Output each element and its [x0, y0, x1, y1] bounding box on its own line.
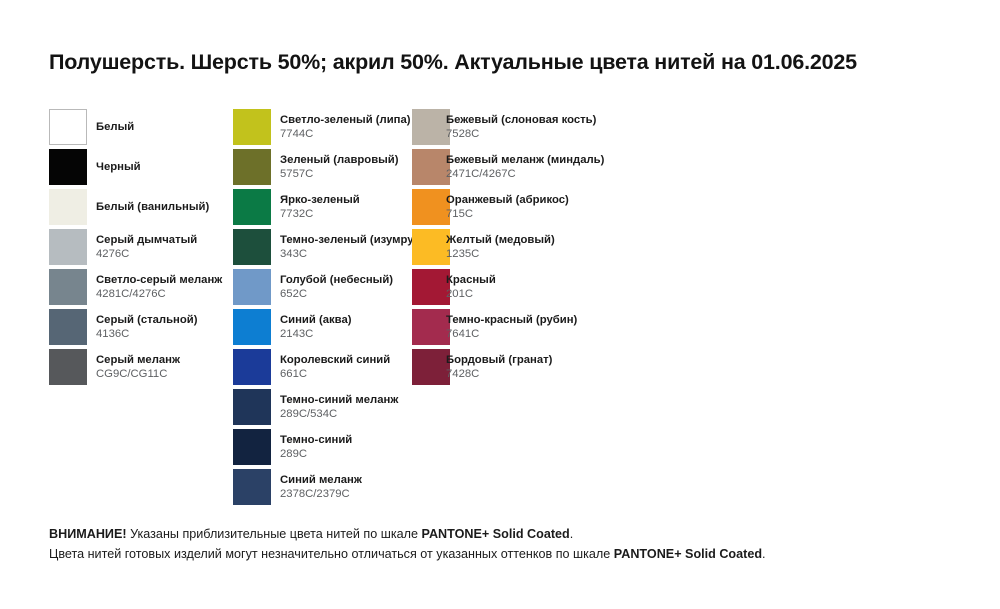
swatch-row[interactable]: Красный201C [412, 269, 642, 309]
swatch-name: Светло-серый меланж [96, 273, 222, 287]
swatch-name: Голубой (небесный) [280, 273, 393, 287]
swatch-pantone-code: 289C [280, 447, 352, 461]
swatch-labels: Серый меланжCG9C/CG11C [96, 349, 180, 385]
swatch-name: Бордовый (гранат) [446, 353, 552, 367]
color-chip[interactable] [412, 349, 450, 385]
swatch-row[interactable]: Оранжевый (абрикос)715C [412, 189, 642, 229]
swatch-name: Красный [446, 273, 496, 287]
color-chip[interactable] [412, 309, 450, 345]
swatch-name: Оранжевый (абрикос) [446, 193, 569, 207]
swatch-labels: Желтый (медовый)1235C [446, 229, 555, 265]
swatch-pantone-code: 661C [280, 367, 390, 381]
swatch-labels: Темно-синий меланж289C/534C [280, 389, 398, 425]
color-chip[interactable] [233, 389, 271, 425]
swatch-labels: Голубой (небесный)652C [280, 269, 393, 305]
color-chart-page: Полушерсть. Шерсть 50%; акрил 50%. Актуа… [0, 0, 1000, 609]
color-chip[interactable] [49, 109, 87, 145]
swatch-name: Серый (стальной) [96, 313, 198, 327]
swatch-labels: Зеленый (лавровый)5757C [280, 149, 399, 185]
color-chip[interactable] [233, 469, 271, 505]
swatch-name: Темно-синий [280, 433, 352, 447]
swatch-labels: Серый (стальной)4136C [96, 309, 198, 345]
swatch-labels: Белый (ванильный) [96, 189, 209, 225]
swatch-row[interactable]: Синий меланж2378C/2379C [233, 469, 413, 509]
footer-line-2: Цвета нитей готовых изделий могут незнач… [49, 544, 969, 564]
color-chip[interactable] [412, 189, 450, 225]
swatch-name: Серый меланж [96, 353, 180, 367]
swatch-labels: Бордовый (гранат)7428C [446, 349, 552, 385]
swatch-labels: Бежевый меланж (миндаль)2471C/4267C [446, 149, 604, 185]
swatch-labels: Красный201C [446, 269, 496, 305]
swatch-labels: Темно-красный (рубин)7641C [446, 309, 577, 345]
color-chip[interactable] [233, 349, 271, 385]
swatch-row[interactable]: Синий (аква)2143C [233, 309, 413, 349]
footer-line-2-end: . [762, 547, 766, 561]
swatch-name: Королевский синий [280, 353, 390, 367]
color-chip[interactable] [49, 189, 87, 225]
swatch-name: Темно-красный (рубин) [446, 313, 577, 327]
footer-notice: ВНИМАНИЕ! Указаны приблизительные цвета … [49, 524, 969, 564]
color-chip[interactable] [233, 229, 271, 265]
swatch-name: Бежевый (слоновая кость) [446, 113, 596, 127]
swatch-labels: Светло-серый меланж4281C/4276C [96, 269, 222, 305]
swatch-name: Бежевый меланж (миндаль) [446, 153, 604, 167]
swatch-row[interactable]: Белый (ванильный) [49, 189, 234, 229]
swatch-row[interactable]: Темно-красный (рубин)7641C [412, 309, 642, 349]
swatch-row[interactable]: Королевский синий661C [233, 349, 413, 389]
swatch-labels: Темно-синий289C [280, 429, 352, 465]
color-chip[interactable] [233, 189, 271, 225]
swatch-name: Темно-зеленый (изумруд) [280, 233, 424, 247]
swatch-labels: Белый [96, 109, 134, 145]
swatch-row[interactable]: Бордовый (гранат)7428C [412, 349, 642, 389]
color-chip[interactable] [233, 269, 271, 305]
swatch-name: Белый [96, 120, 134, 134]
swatch-name: Синий (аква) [280, 313, 352, 327]
color-chip[interactable] [412, 109, 450, 145]
swatch-row[interactable]: Серый дымчатый4276C [49, 229, 234, 269]
swatch-labels: Синий (аква)2143C [280, 309, 352, 345]
color-chip[interactable] [233, 109, 271, 145]
swatch-pantone-code: 2378C/2379C [280, 487, 362, 501]
swatch-pantone-code: 343C [280, 247, 424, 261]
swatch-pantone-code: 652C [280, 287, 393, 301]
footer-line-2-text: Цвета нитей готовых изделий могут незнач… [49, 547, 614, 561]
swatch-labels: Оранжевый (абрикос)715C [446, 189, 569, 225]
swatch-pantone-code: 4281C/4276C [96, 287, 222, 301]
swatch-row[interactable]: Голубой (небесный)652C [233, 269, 413, 309]
swatch-pantone-code: 2471C/4267C [446, 167, 604, 181]
footer-brand-2: PANTONE+ Solid Coated [614, 547, 762, 561]
swatch-column-warm: Бежевый (слоновая кость)7528CБежевый мел… [412, 109, 642, 389]
swatch-name: Ярко-зеленый [280, 193, 360, 207]
swatch-name: Зеленый (лавровый) [280, 153, 399, 167]
color-chip[interactable] [49, 149, 87, 185]
swatch-pantone-code: 5757C [280, 167, 399, 181]
swatch-pantone-code: 7744C [280, 127, 411, 141]
footer-line-1-text: Указаны приблизительные цвета нитей по ш… [127, 527, 422, 541]
swatch-row[interactable]: Ярко-зеленый7732C [233, 189, 413, 229]
swatch-row[interactable]: Серый (стальной)4136C [49, 309, 234, 349]
swatch-labels: Бежевый (слоновая кость)7528C [446, 109, 596, 145]
swatch-name: Серый дымчатый [96, 233, 197, 247]
swatch-row[interactable]: Зеленый (лавровый)5757C [233, 149, 413, 189]
footer-brand-1: PANTONE+ Solid Coated [421, 527, 569, 541]
swatch-name: Желтый (медовый) [446, 233, 555, 247]
swatch-name: Светло-зеленый (липа) [280, 113, 411, 127]
swatch-row[interactable]: Темно-зеленый (изумруд)343C [233, 229, 413, 269]
swatch-row[interactable]: Темно-синий меланж289C/534C [233, 389, 413, 429]
swatch-row[interactable]: Бежевый (слоновая кость)7528C [412, 109, 642, 149]
swatch-pantone-code: 4276C [96, 247, 197, 261]
color-chip[interactable] [49, 269, 87, 305]
swatch-name: Темно-синий меланж [280, 393, 398, 407]
swatch-row[interactable]: Белый [49, 109, 234, 149]
color-chip[interactable] [49, 229, 87, 265]
swatch-row[interactable]: Светло-зеленый (липа)7744C [233, 109, 413, 149]
swatch-labels: Темно-зеленый (изумруд)343C [280, 229, 424, 265]
swatch-row[interactable]: Светло-серый меланж4281C/4276C [49, 269, 234, 309]
swatch-row[interactable]: Бежевый меланж (миндаль)2471C/4267C [412, 149, 642, 189]
swatch-name: Белый (ванильный) [96, 200, 209, 214]
footer-attention-label: ВНИМАНИЕ! [49, 527, 127, 541]
swatch-row[interactable]: Темно-синий289C [233, 429, 413, 469]
swatch-row[interactable]: Черный [49, 149, 234, 189]
swatch-pantone-code: 1235C [446, 247, 555, 261]
color-chip[interactable] [412, 149, 450, 185]
swatch-labels: Королевский синий661C [280, 349, 390, 385]
swatch-labels: Серый дымчатый4276C [96, 229, 197, 265]
footer-line-1-end: . [570, 527, 574, 541]
swatch-labels: Синий меланж2378C/2379C [280, 469, 362, 505]
swatch-column-grays: БелыйЧерныйБелый (ванильный)Серый дымчат… [49, 109, 234, 389]
swatch-pantone-code: 7732C [280, 207, 360, 221]
color-chip[interactable] [49, 309, 87, 345]
swatch-name: Черный [96, 160, 141, 174]
footer-line-1: ВНИМАНИЕ! Указаны приблизительные цвета … [49, 524, 969, 544]
swatch-column-greens-blues: Светло-зеленый (липа)7744CЗеленый (лавро… [233, 109, 413, 509]
swatch-pantone-code: 201C [446, 287, 496, 301]
swatch-labels: Черный [96, 149, 141, 185]
swatch-name: Синий меланж [280, 473, 362, 487]
swatch-pantone-code: 715C [446, 207, 569, 221]
swatch-row[interactable]: Серый меланжCG9C/CG11C [49, 349, 234, 389]
color-chip[interactable] [412, 229, 450, 265]
swatch-pantone-code: 7641C [446, 327, 577, 341]
swatch-row[interactable]: Желтый (медовый)1235C [412, 229, 642, 269]
swatch-pantone-code: 289C/534C [280, 407, 398, 421]
swatch-pantone-code: CG9C/CG11C [96, 367, 180, 381]
color-chip[interactable] [233, 309, 271, 345]
swatch-pantone-code: 7428C [446, 367, 552, 381]
color-chip[interactable] [412, 269, 450, 305]
page-title: Полушерсть. Шерсть 50%; акрил 50%. Актуа… [49, 50, 857, 75]
swatch-pantone-code: 2143C [280, 327, 352, 341]
swatch-pantone-code: 7528C [446, 127, 596, 141]
color-chip[interactable] [233, 149, 271, 185]
color-chip[interactable] [49, 349, 87, 385]
swatch-labels: Светло-зеленый (липа)7744C [280, 109, 411, 145]
swatch-labels: Ярко-зеленый7732C [280, 189, 360, 225]
swatch-pantone-code: 4136C [96, 327, 198, 341]
color-chip[interactable] [233, 429, 271, 465]
